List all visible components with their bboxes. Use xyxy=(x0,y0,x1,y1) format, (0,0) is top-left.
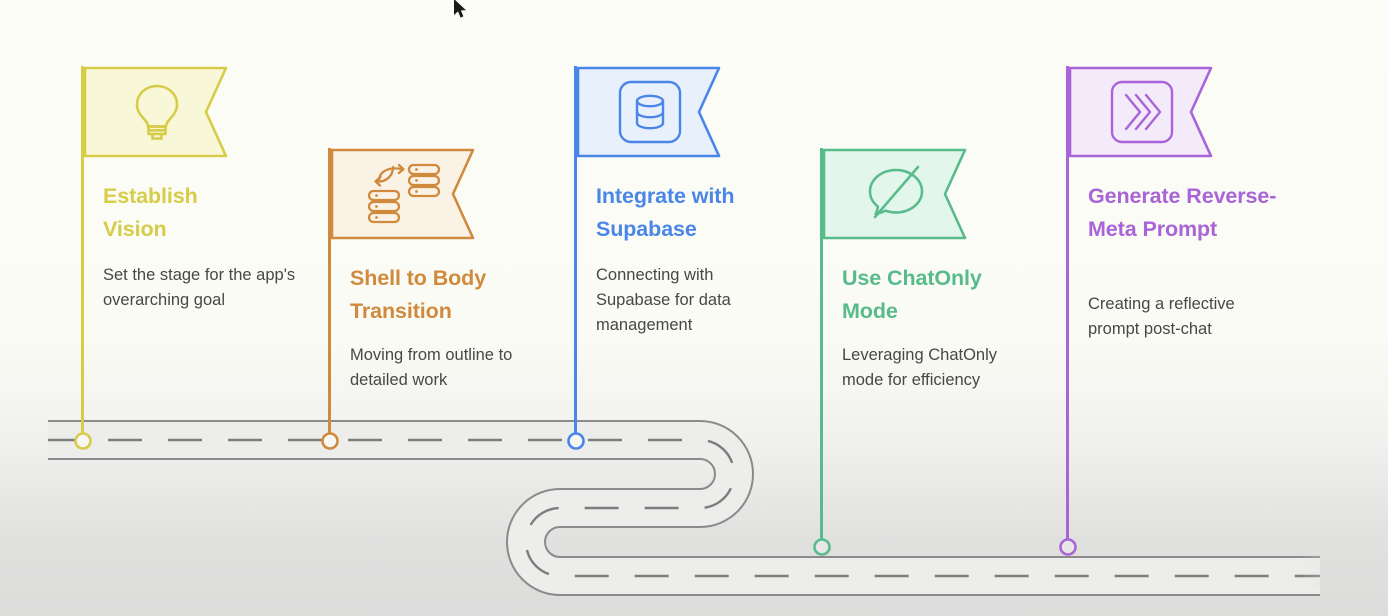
milestone-description: Creating a reflective prompt post-chat xyxy=(1088,292,1288,342)
milestone-title: Shell to Body Transition xyxy=(350,262,530,327)
milestone-description: Leveraging ChatOnly mode for efficiency xyxy=(842,343,1042,393)
milestone-flag xyxy=(823,148,968,240)
milestone-flag xyxy=(331,148,476,240)
milestone-marker-generate-reverse-meta-prompt[interactable] xyxy=(1055,534,1081,560)
milestone-flag xyxy=(577,66,722,158)
milestone-description: Set the stage for the app's overarching … xyxy=(103,263,303,313)
milestone-marker-integrate-with-supabase[interactable] xyxy=(563,428,589,454)
milestone-marker-establish-vision[interactable] xyxy=(70,428,96,454)
milestone-description: Moving from outline to detailed work xyxy=(350,343,550,393)
milestone-flag xyxy=(84,66,229,158)
milestone-marker-use-chatonly-mode[interactable] xyxy=(809,534,835,560)
milestone-title: Integrate with Supabase xyxy=(596,180,786,245)
milestone-title: Use ChatOnly Mode xyxy=(842,262,1037,327)
milestone-description: Connecting with Supabase for data manage… xyxy=(596,263,786,338)
milestone-flag xyxy=(1069,66,1214,158)
milestone-marker-shell-to-body-transition[interactable] xyxy=(317,428,343,454)
milestone-title: Establish Vision xyxy=(103,180,253,245)
roadmap-diagram: Establish Vision Set the stage for the a… xyxy=(0,0,1388,616)
milestone-title: Generate Reverse-Meta Prompt xyxy=(1088,180,1288,245)
